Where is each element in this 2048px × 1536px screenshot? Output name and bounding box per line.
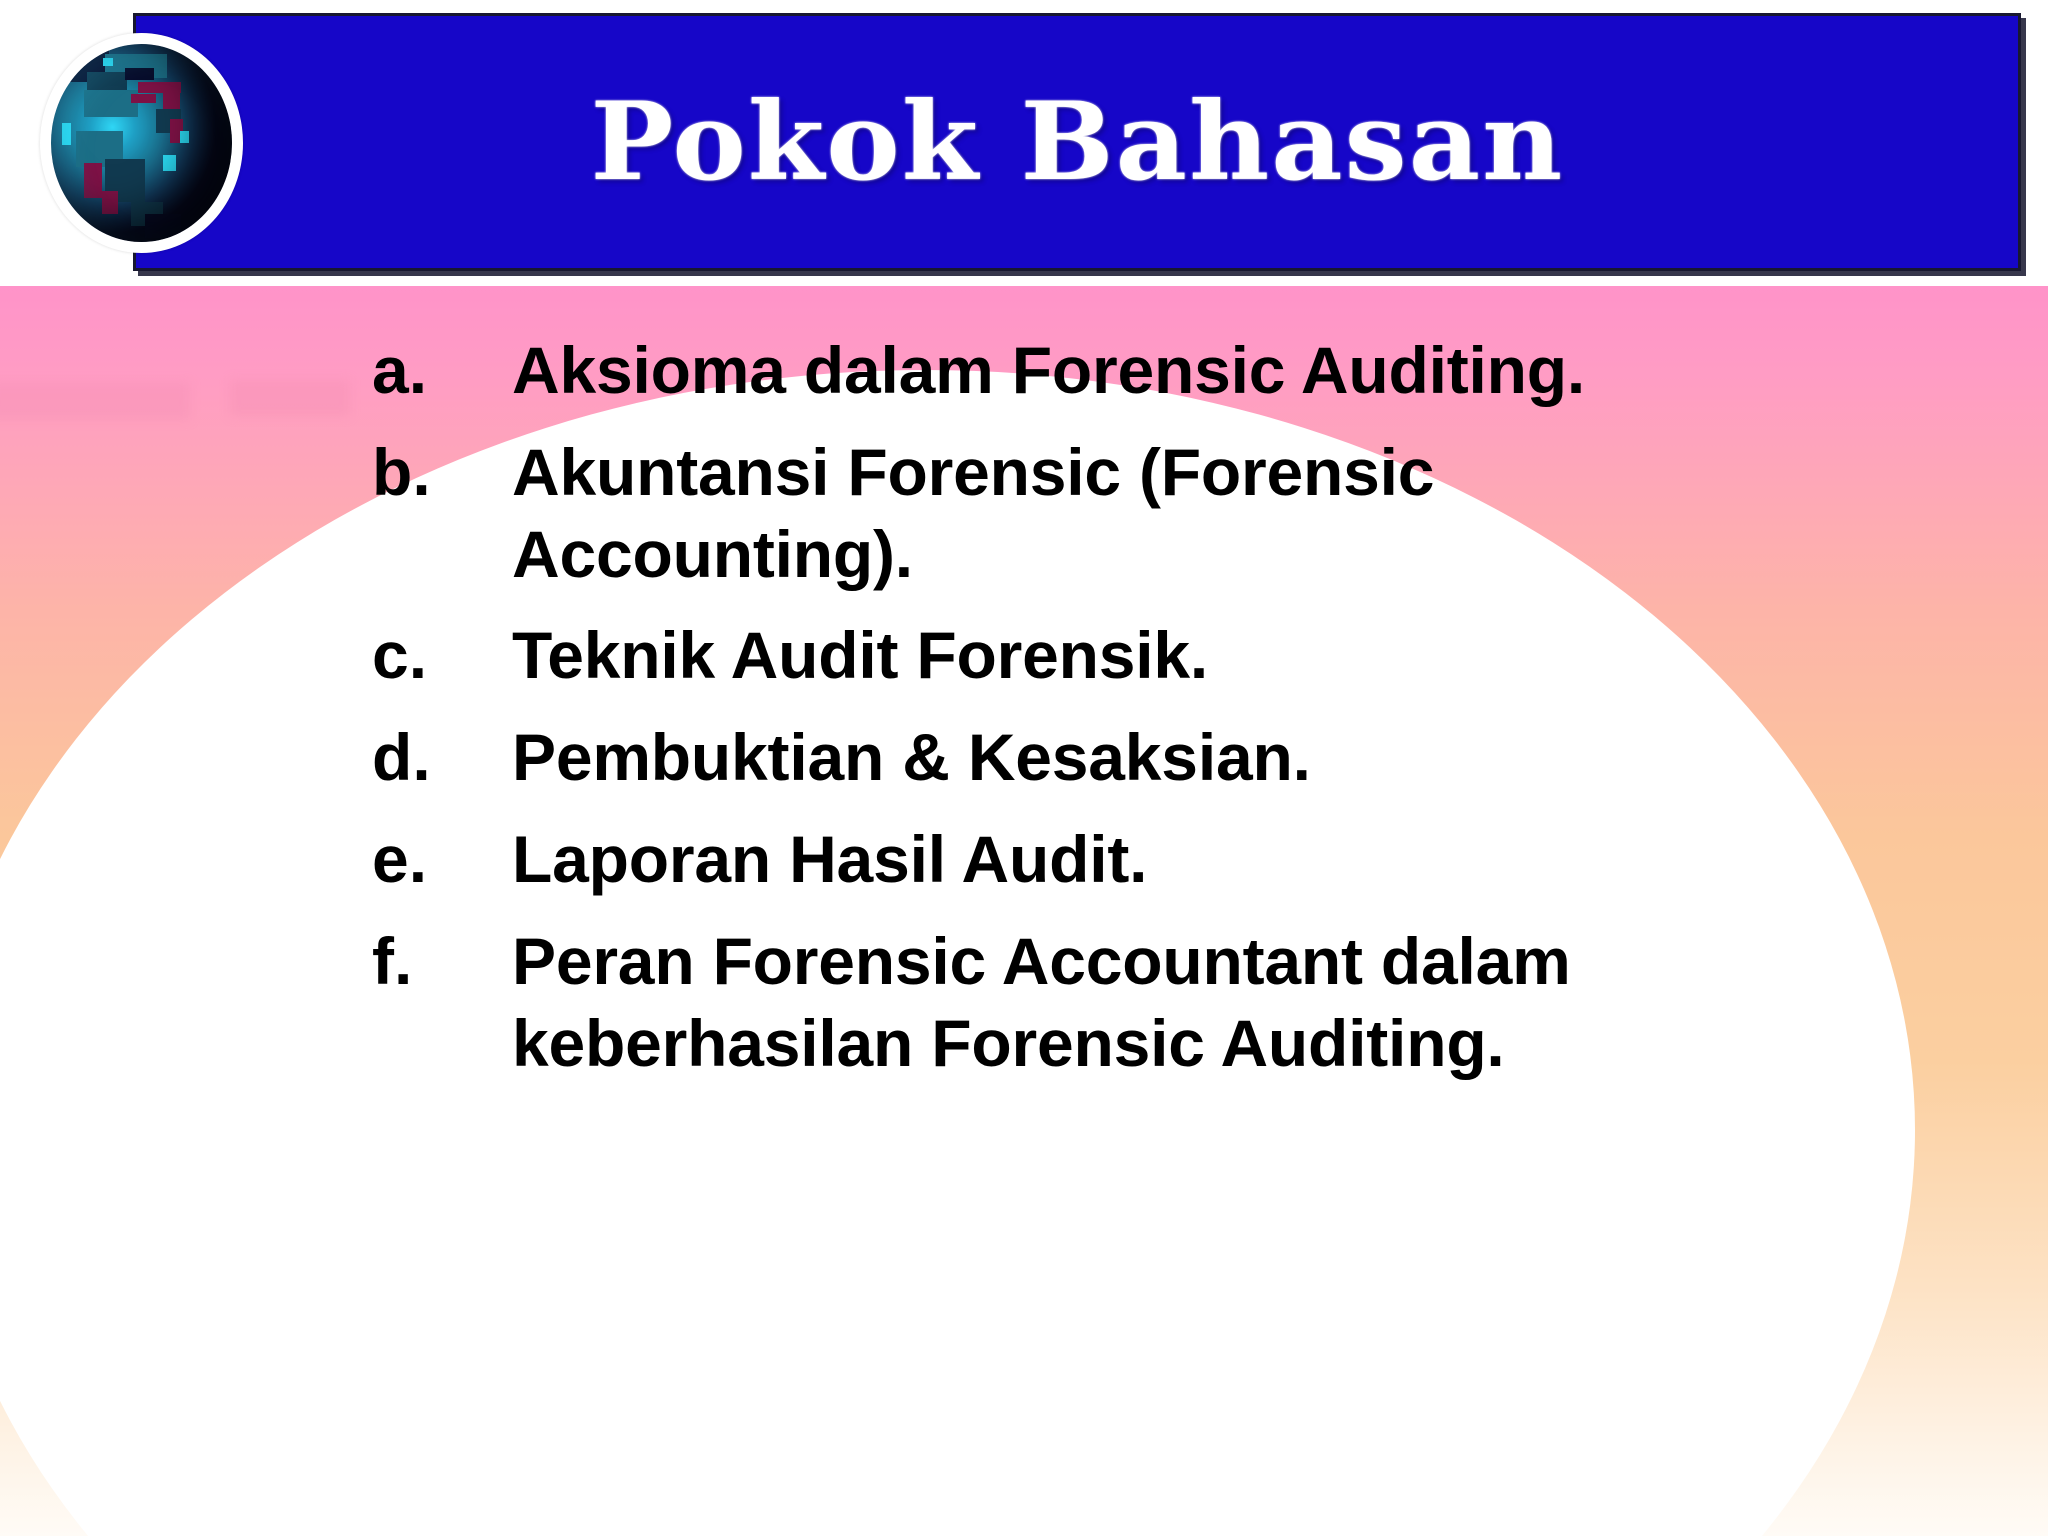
list-item-label: Laporan Hasil Audit.: [512, 819, 1812, 901]
list-item-label: Aksioma dalam Forensic Auditing.: [512, 330, 1812, 412]
list-item-marker: c.: [372, 615, 512, 697]
list-item-label: Peran Forensic Accountant dalam keberhas…: [512, 921, 1812, 1085]
globe-sphere: [51, 44, 232, 242]
list-item-label: Teknik Audit Forensik.: [512, 615, 1812, 697]
page-title: Pokok Bahasan: [590, 88, 1564, 196]
slide: Pokok Bahasan a. A: [0, 0, 2048, 1536]
list-item-marker: e.: [372, 819, 512, 901]
globe-icon: [40, 33, 243, 253]
list-item-marker: b.: [372, 432, 512, 514]
list-item-marker: a.: [372, 330, 512, 412]
list-item: e. Laporan Hasil Audit.: [0, 819, 2048, 901]
title-banner: Pokok Bahasan: [133, 13, 2021, 271]
list-item-label: Akuntansi Forensic (Forensic Accounting)…: [512, 432, 1632, 596]
list-item: a. Aksioma dalam Forensic Auditing.: [0, 330, 2048, 412]
list-item: d. Pembuktian & Kesaksian.: [0, 717, 2048, 799]
list-item-marker: d.: [372, 717, 512, 799]
list-item-marker: f.: [372, 921, 512, 1003]
list-item: c. Teknik Audit Forensik.: [0, 615, 2048, 697]
list-item: f. Peran Forensic Accountant dalam keber…: [0, 921, 2048, 1085]
bullet-list: a. Aksioma dalam Forensic Auditing. b. A…: [0, 286, 2048, 1536]
list-item: b. Akuntansi Forensic (Forensic Accounti…: [0, 432, 2048, 596]
list-item-label: Pembuktian & Kesaksian.: [512, 717, 1812, 799]
